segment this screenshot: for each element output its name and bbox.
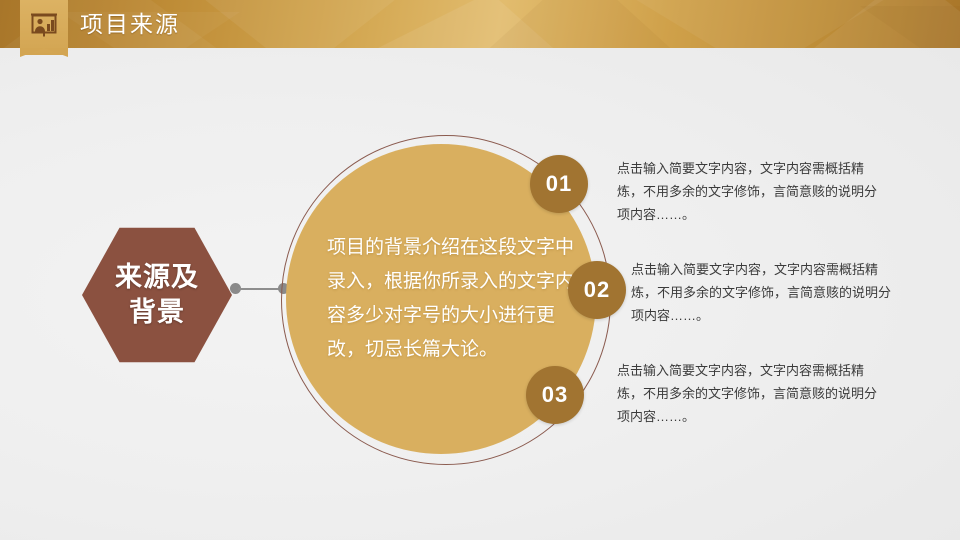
hexagon-label-line1: 来源及	[115, 262, 199, 292]
description-item-01: 点击输入简要文字内容，文字内容需概括精炼，不用多余的文字修饰，言简意赅的说明分项…	[617, 158, 889, 226]
hexagon-label-line2: 背景	[129, 297, 185, 327]
description-item-02: 点击输入简要文字内容，文字内容需概括精炼，不用多余的文字修饰，言简意赅的说明分项…	[631, 259, 903, 327]
hexagon-node[interactable]: 来源及 背景	[82, 225, 232, 365]
description-item-03: 点击输入简要文字内容，文字内容需概括精炼，不用多余的文字修饰，言简意赅的说明分项…	[617, 360, 889, 428]
hexagon-label: 来源及 背景	[115, 260, 199, 330]
hexagon-shape: 来源及 背景	[82, 225, 232, 365]
polygon-shape	[860, 6, 960, 48]
badge-02[interactable]: 02	[568, 261, 626, 319]
slide: 项目来源 来源及 背景 项目的背景介绍在这段文字中录入，根据你所录入的文字内容多…	[0, 0, 960, 540]
circle-description: 项目的背景介绍在这段文字中录入，根据你所录入的文字内容多少对字号的大小进行更改，…	[327, 231, 577, 366]
badge-03[interactable]: 03	[526, 366, 584, 424]
badge-01[interactable]: 01	[530, 155, 588, 213]
page-title: 项目来源	[80, 0, 180, 48]
presentation-chart-icon	[20, 9, 68, 41]
